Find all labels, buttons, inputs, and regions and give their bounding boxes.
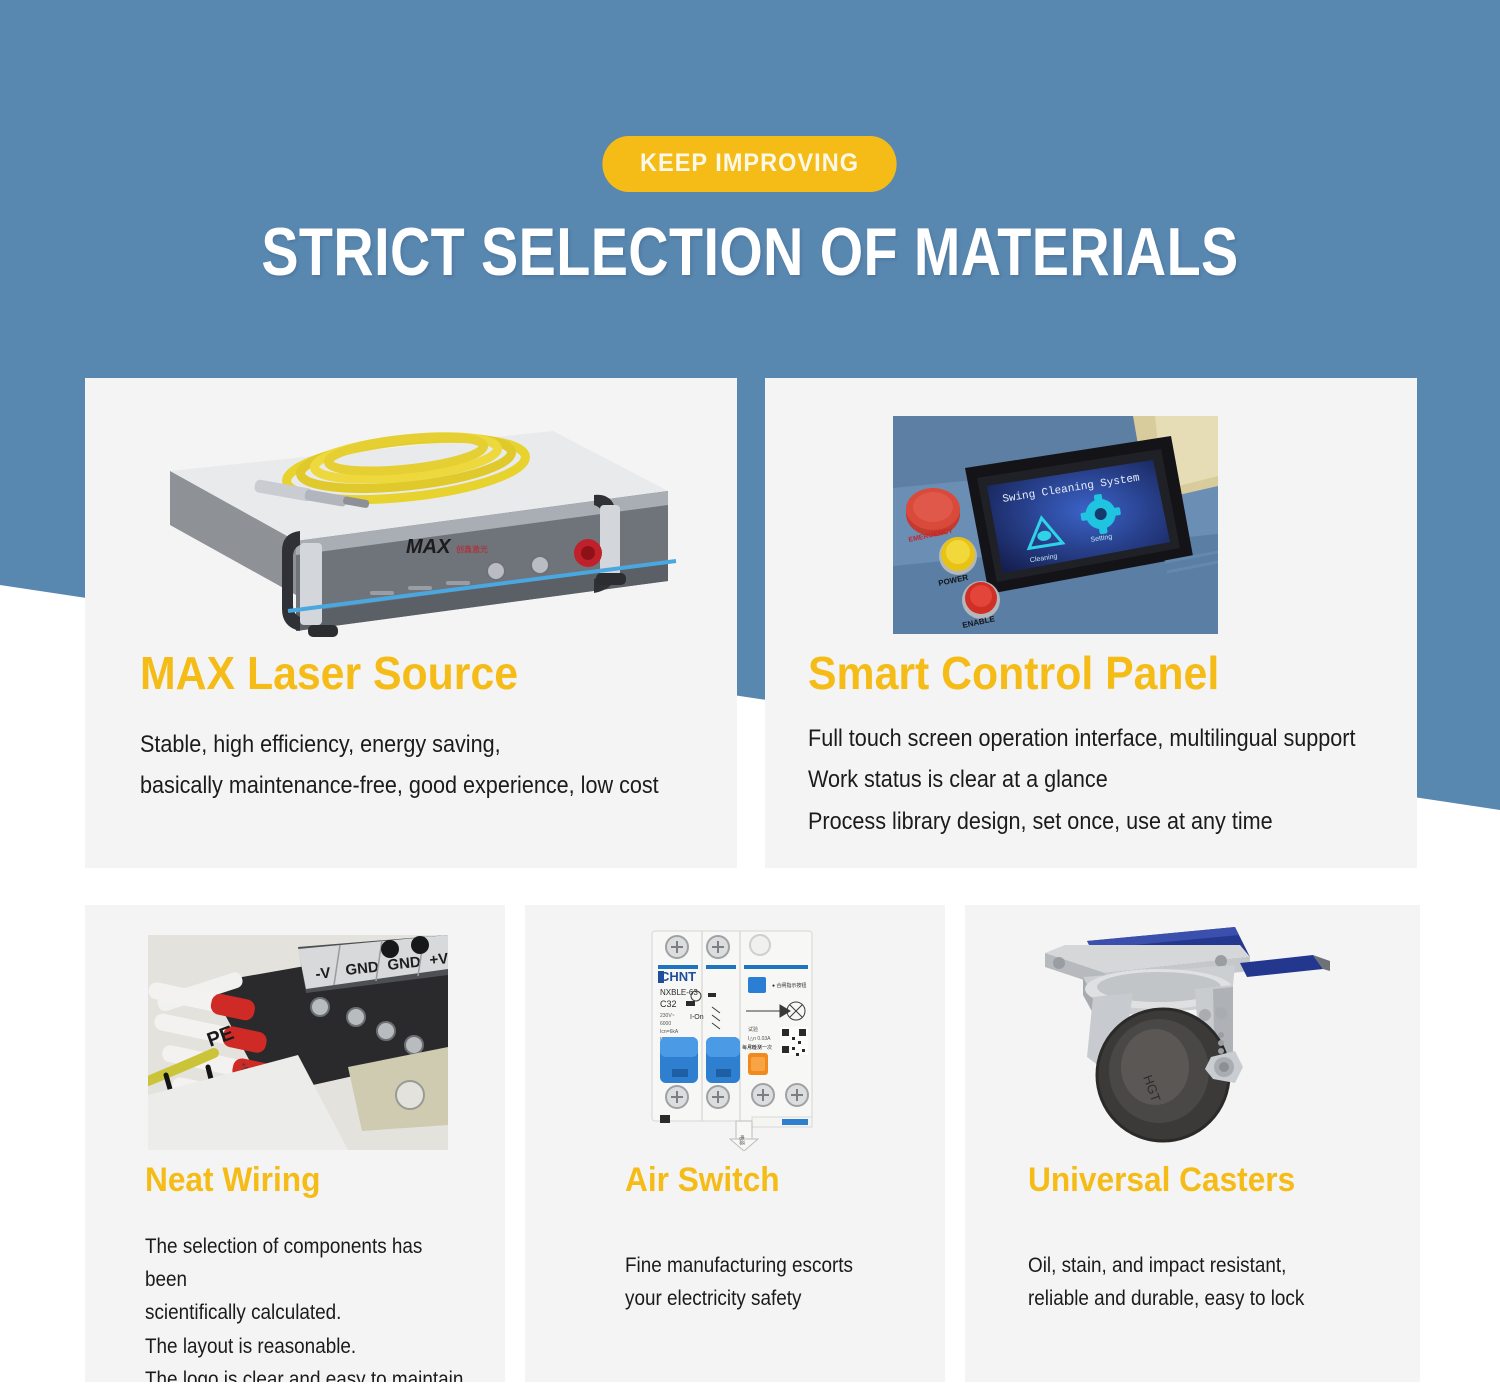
card-body-smart-control-panel: Full touch screen operation interface, m… (808, 718, 1356, 842)
body-line: Process library design, set once, use at… (808, 801, 1356, 842)
svg-text:电源: 电源 (738, 1135, 745, 1145)
caster-photo: HGT (1035, 919, 1330, 1149)
svg-text:GND: GND (345, 959, 380, 979)
card-title-max-laser-source: MAX Laser Source (140, 650, 676, 696)
body-line: scientifically calculated. (145, 1296, 469, 1329)
svg-text:I-On: I-On (690, 1014, 704, 1021)
body-line: The logo is clear and easy to maintain. (145, 1363, 469, 1382)
card-title-neat-wiring: Neat Wiring (145, 1163, 480, 1197)
svg-text:+V: +V (429, 950, 448, 969)
body-line: Full touch screen operation interface, m… (808, 718, 1356, 759)
feature-card-air-switch: CHNT NXBLE-63 C32 230V~ 6000 Icn=6kA IEC… (525, 905, 945, 1382)
feature-card-neat-wiring: -V GND GND +V (85, 905, 505, 1382)
body-line: Fine manufacturing escorts (625, 1249, 853, 1282)
card-body-neat-wiring: The selection of components has been sci… (145, 1230, 469, 1382)
feature-card-smart-control-panel: Swing Cleaning System Cleaning (765, 378, 1417, 868)
svg-text:Icn=6kA: Icn=6kA (660, 1029, 679, 1035)
svg-text:每月检测一次: 每月检测一次 (742, 1044, 772, 1051)
body-line: reliable and durable, easy to lock (1028, 1282, 1304, 1315)
card-text-block: Neat Wiring The selection of components … (145, 1163, 505, 1382)
card-text-block: Smart Control Panel Full touch screen op… (808, 650, 1416, 842)
svg-text:C32: C32 (660, 999, 677, 1009)
svg-text:创鑫激光: 创鑫激光 (456, 544, 488, 554)
card-title-smart-control-panel: Smart Control Panel (808, 650, 1374, 696)
svg-text:● 合闸指示按钮: ● 合闸指示按钮 (772, 982, 806, 989)
body-line: Stable, high efficiency, energy saving, (140, 724, 659, 765)
body-line: Oil, stain, and impact resistant, (1028, 1249, 1304, 1282)
promo-page: KEEP IMPROVING STRICT SELECTION OF MATER… (0, 0, 1500, 1398)
card-text-block: Air Switch Fine manufacturing escorts yo… (625, 1163, 878, 1315)
body-line: The selection of components has been (145, 1230, 469, 1296)
air-switch-photo: CHNT NXBLE-63 C32 230V~ 6000 Icn=6kA IEC… (630, 919, 835, 1151)
svg-text:MAX: MAX (406, 536, 452, 558)
keep-improving-badge: KEEP IMPROVING (603, 136, 897, 192)
svg-text:试验: 试验 (748, 1026, 758, 1033)
svg-text:CHNT: CHNT (660, 969, 696, 984)
card-body-max-laser-source: Stable, high efficiency, energy saving, … (140, 724, 659, 807)
svg-text:I△n 0.03A: I△n 0.03A (748, 1036, 771, 1042)
card-body-universal-casters: Oil, stain, and impact resistant, reliab… (1028, 1249, 1304, 1315)
badge-container: KEEP IMPROVING (0, 136, 1500, 192)
body-line: your electricity safety (625, 1282, 853, 1315)
body-line: The layout is reasonable. (145, 1330, 469, 1363)
control-panel-photo: Swing Cleaning System Cleaning (893, 416, 1218, 634)
feature-card-universal-casters: HGT Universal Casters Oil, stain, and im… (965, 905, 1420, 1382)
feature-card-max-laser-source: MAX 创鑫激光 MAX Laser Source Stable, high e… (85, 378, 737, 868)
wiring-photo: -V GND GND +V (148, 935, 448, 1150)
card-text-block: Universal Casters Oil, stain, and impact… (1028, 1163, 1335, 1315)
svg-text:-V: -V (315, 965, 332, 983)
svg-text:230V~: 230V~ (660, 1013, 675, 1019)
laser-source-photo: MAX 创鑫激光 (148, 413, 678, 638)
svg-text:6000: 6000 (660, 1021, 671, 1027)
body-line: basically maintenance-free, good experie… (140, 765, 659, 806)
page-title: STRICT SELECTION OF MATERIALS (135, 218, 1365, 286)
card-body-air-switch: Fine manufacturing escorts your electric… (625, 1249, 853, 1315)
card-text-block: MAX Laser Source Stable, high efficiency… (140, 650, 716, 807)
body-line: Work status is clear at a glance (808, 759, 1356, 800)
card-title-air-switch: Air Switch (625, 1163, 861, 1197)
card-title-universal-casters: Universal Casters (1028, 1163, 1314, 1197)
